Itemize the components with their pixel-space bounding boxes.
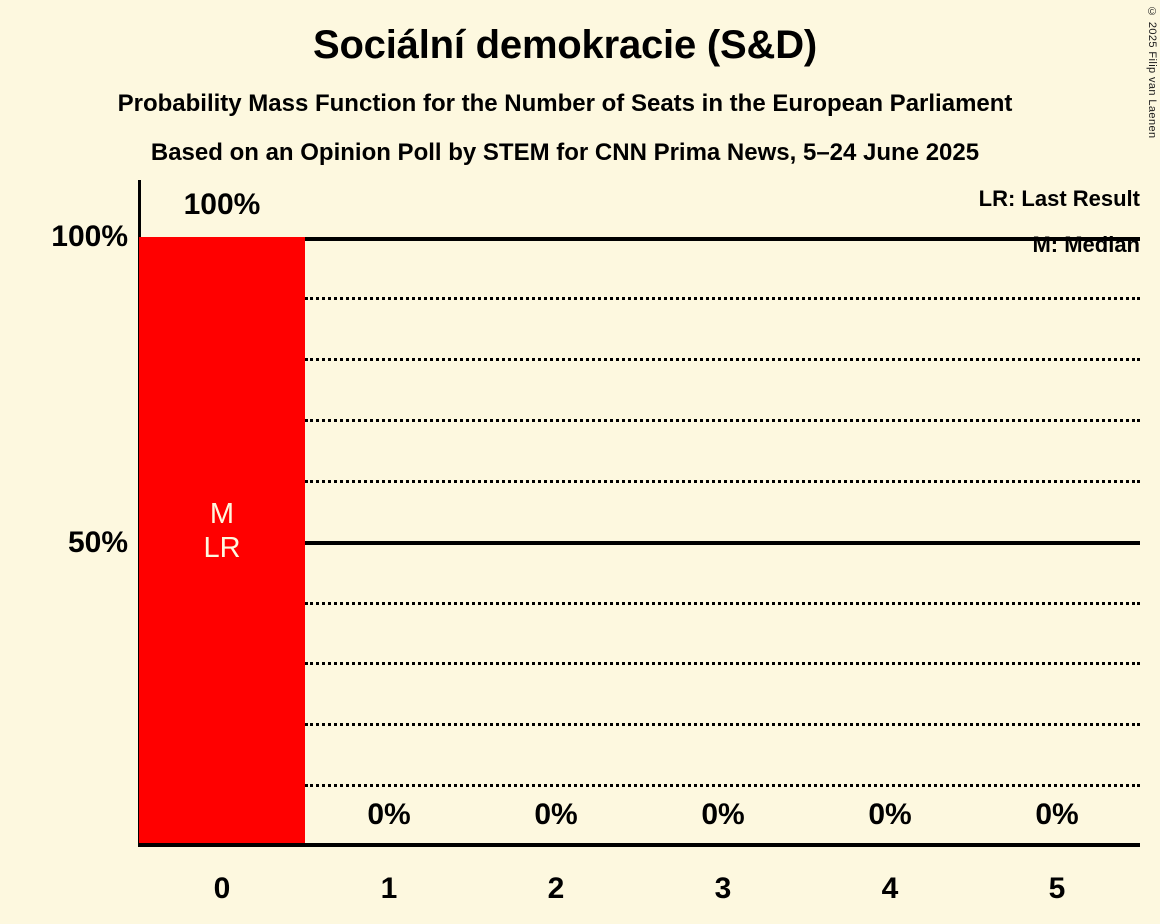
gridline-80 [305,358,1140,361]
bar-0-marker-median: M [139,497,305,531]
bar-value-label-0: 100% [155,188,289,222]
plot-area: M LR [138,180,1140,846]
legend-last-result: LR: Last Result [979,186,1140,212]
bar-value-label-1: 0% [322,798,456,832]
chart-root: Sociální demokracie (S&D) Probability Ma… [0,0,1160,924]
gridline-90 [305,297,1140,300]
gridline-70 [305,419,1140,422]
x-axis-tick-3: 3 [656,872,790,906]
chart-subtitle: Probability Mass Function for the Number… [0,88,1130,120]
x-axis-tick-2: 2 [489,872,623,906]
bar-value-label-5: 0% [990,798,1124,832]
gridline-60 [305,480,1140,483]
y-axis-label-50: 50% [8,526,128,560]
bar-value-label-4: 0% [823,798,957,832]
bar-value-label-3: 0% [656,798,790,832]
x-axis-tick-5: 5 [990,872,1124,906]
bar-0-marker-last-result: LR [139,531,305,565]
gridline-40 [305,602,1140,605]
gridline-100 [305,237,1140,241]
x-axis-tick-4: 4 [823,872,957,906]
gridline-20 [305,723,1140,726]
x-axis-tick-0: 0 [155,872,289,906]
chart-source-subtitle: Based on an Opinion Poll by STEM for CNN… [0,137,1130,169]
bar-value-label-2: 0% [489,798,623,832]
x-axis-line [138,843,1140,847]
bar-0[interactable]: M LR [139,237,305,843]
gridline-10 [305,784,1140,787]
copyright-notice: © 2025 Filip van Laenen [1146,6,1158,139]
gridline-30 [305,662,1140,665]
gridline-50 [305,541,1140,545]
y-axis-label-100: 100% [8,220,128,254]
legend-median: M: Median [1032,232,1140,258]
page-title: Sociální demokracie (S&D) [0,20,1130,70]
x-axis-tick-1: 1 [322,872,456,906]
